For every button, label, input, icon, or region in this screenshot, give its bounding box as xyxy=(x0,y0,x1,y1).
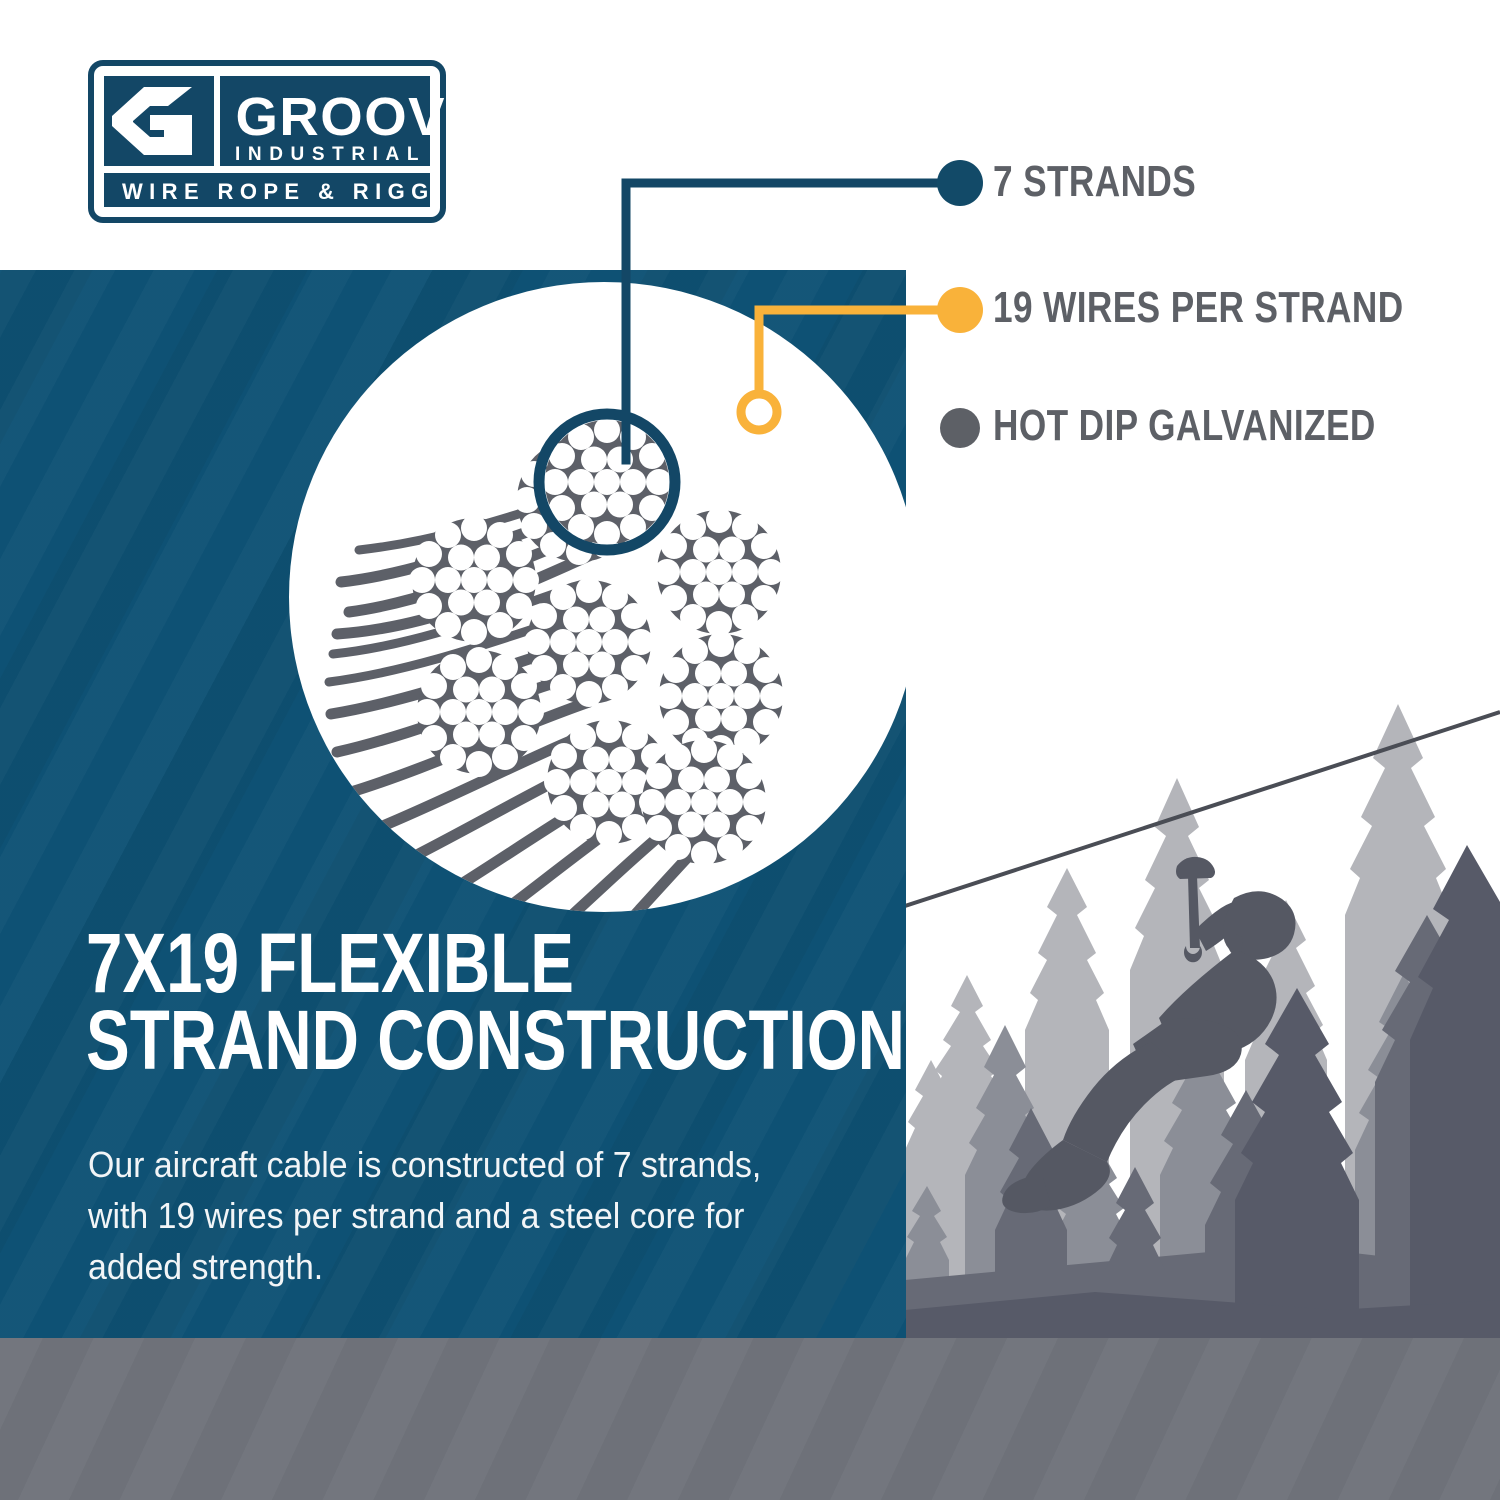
headline-line-2: STRAND CONSTRUCTION xyxy=(86,1002,702,1079)
callout-item-galvanized: HOT DIP GALVANIZED xyxy=(993,404,1471,448)
cable-cross-section-diagram xyxy=(289,282,919,912)
infographic-canvas: 7 STRANDS 19 WIRES PER STRAND HOT DIP GA… xyxy=(0,0,1500,1500)
body-paragraph: Our aircraft cable is constructed of 7 s… xyxy=(88,1139,765,1292)
bottom-band-stripes xyxy=(0,1338,1500,1500)
bottom-grey-band xyxy=(0,1338,1500,1500)
callout-item-strands: 7 STRANDS xyxy=(993,160,1247,204)
callout-label-galvanized: HOT DIP GALVANIZED xyxy=(993,404,1376,448)
callout-label-wires-per-strand: 19 WIRES PER STRAND xyxy=(993,286,1404,330)
callout-item-wires-per-strand: 19 WIRES PER STRAND xyxy=(993,286,1500,330)
headline-line-1: 7X19 FLEXIBLE xyxy=(86,925,702,1002)
callout-label-strands: 7 STRANDS xyxy=(993,160,1196,204)
logo-name-line1: GROOVE xyxy=(235,86,446,147)
logo-name-line2: INDUSTRIAL xyxy=(235,144,426,165)
logo-tagline: WIRE ROPE & RIGGING xyxy=(122,179,446,204)
headline-block: 7X19 FLEXIBLE STRAND CONSTRUCTION xyxy=(86,925,876,1080)
navy-callout-dot xyxy=(937,160,983,206)
brand-logo[interactable]: GROOVE INDUSTRIAL WIRE ROPE & RIGGING xyxy=(88,60,446,223)
